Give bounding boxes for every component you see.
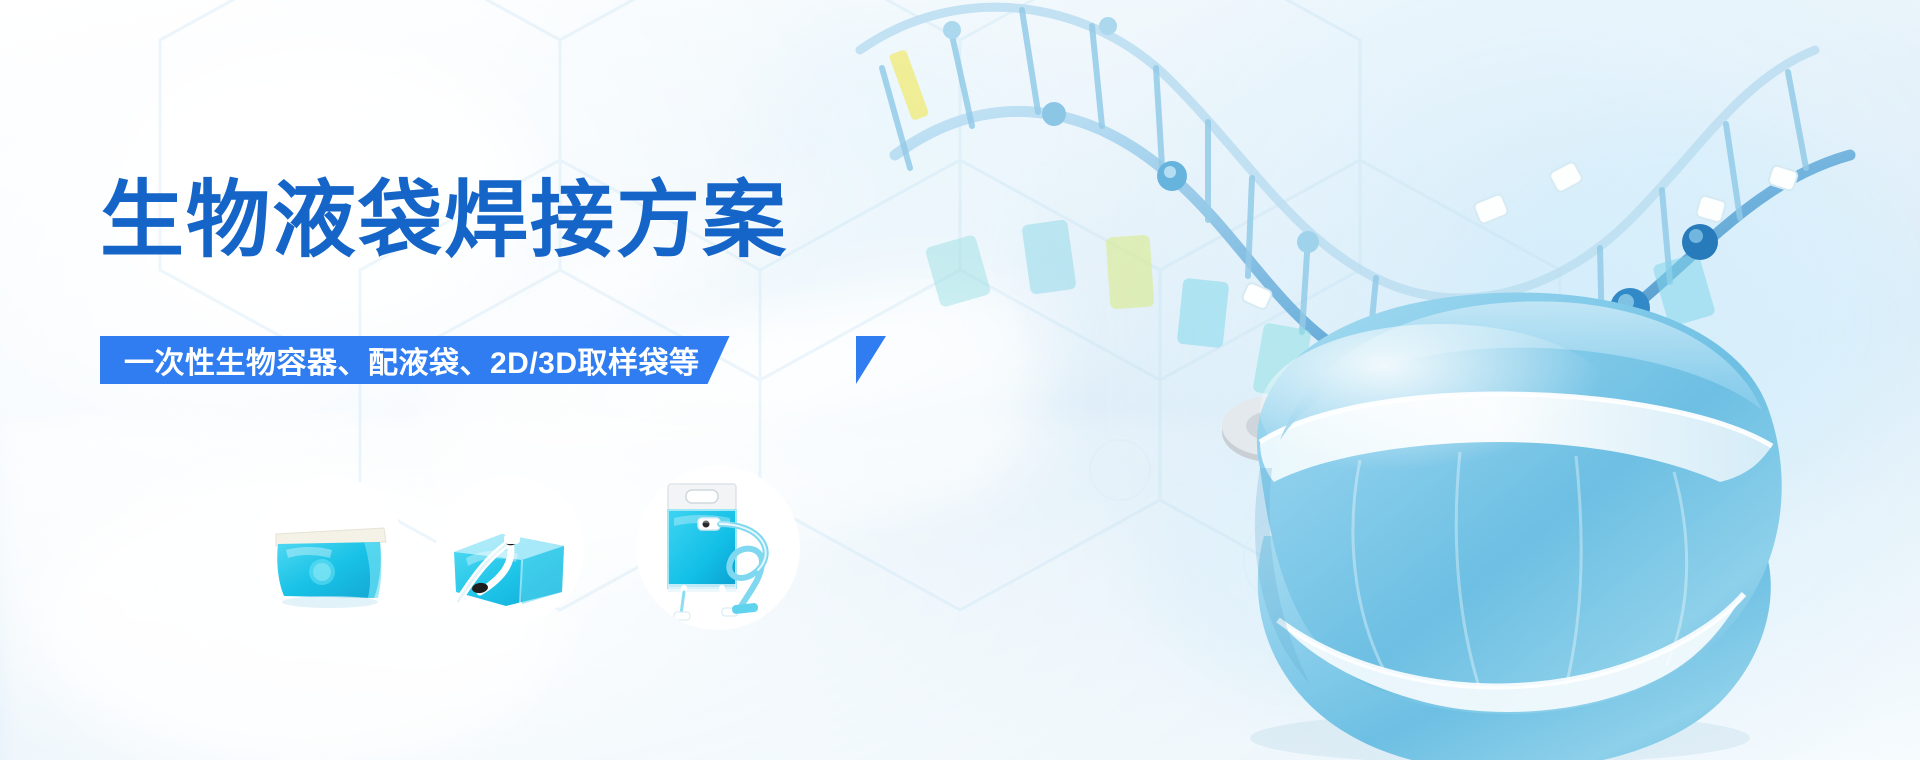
- product-thumbnail-3d-cube-bag[interactable]: [436, 476, 584, 624]
- subtitle-arrow-accent: [856, 336, 886, 384]
- hero-banner: 生物液袋焊接方案 一次性生物容器、配液袋、2D/3D取样袋等: [0, 0, 1920, 760]
- hero-illustration: [840, 0, 1920, 760]
- product-thumbnail-2d-liquid-bag[interactable]: [256, 476, 404, 624]
- subtitle-text: 一次性生物容器、配液袋、2D/3D取样袋等: [124, 338, 700, 382]
- subtitle-banner: 一次性生物容器、配液袋、2D/3D取样袋等: [100, 336, 730, 384]
- page-title: 生物液袋焊接方案: [100, 178, 788, 262]
- subtitle-bar: 一次性生物容器、配液袋、2D/3D取样袋等: [100, 336, 730, 384]
- product-thumbnail-sampling-bag[interactable]: [636, 466, 800, 630]
